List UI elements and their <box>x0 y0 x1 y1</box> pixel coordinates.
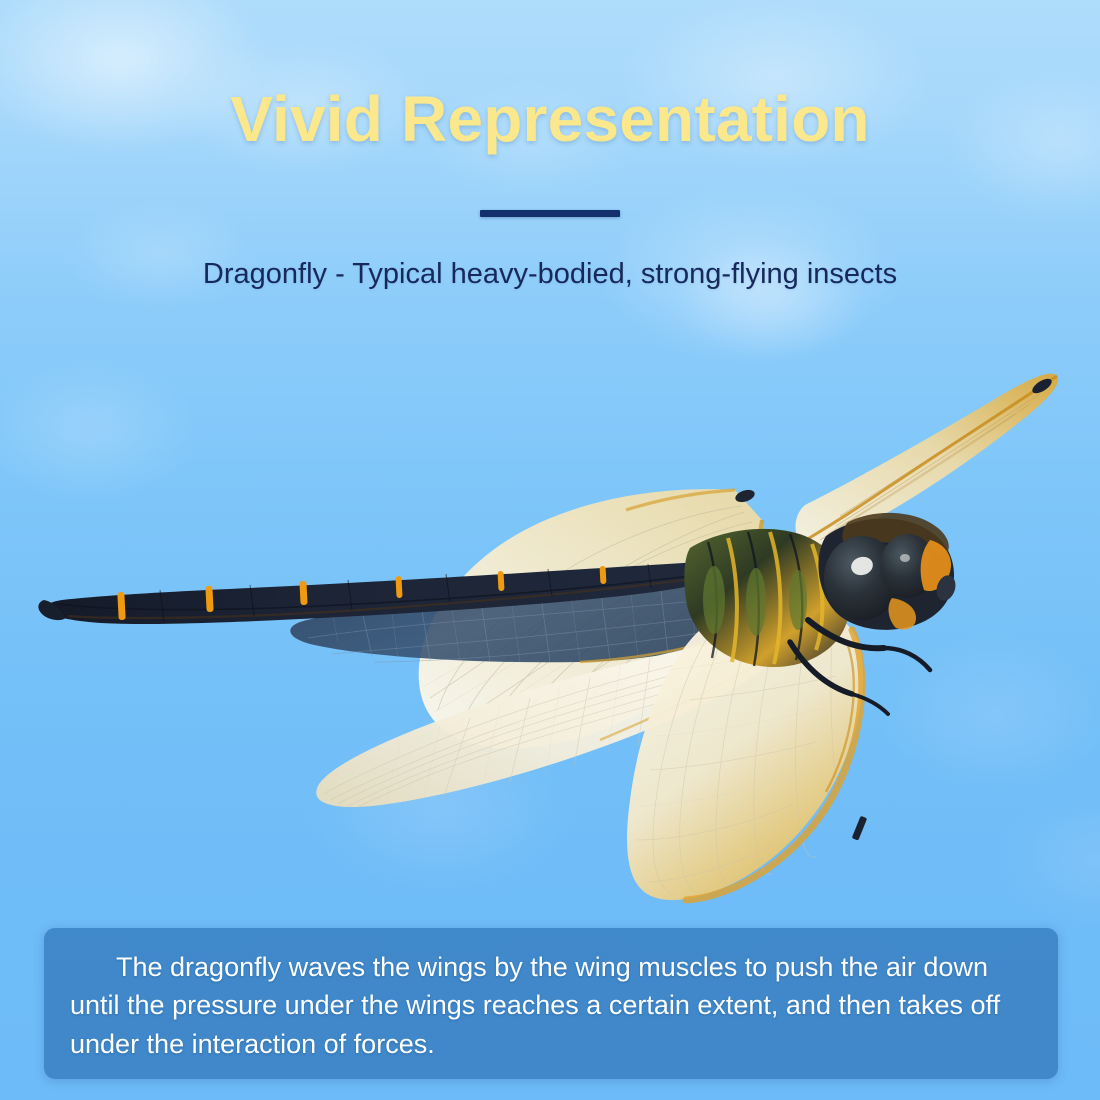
abdomen <box>38 562 713 624</box>
cloud-icon <box>0 330 240 530</box>
caption-box: The dragonfly waves the wings by the win… <box>44 928 1058 1079</box>
thorax <box>684 529 850 667</box>
page-subtitle: Dragonfly - Typical heavy-bodied, strong… <box>0 258 1100 291</box>
cloud-icon <box>830 600 1100 830</box>
wing-lower-right <box>627 607 867 900</box>
wing-lower-left-dark <box>290 572 812 663</box>
page-title: Vivid Representation <box>0 82 1100 156</box>
title-divider <box>480 210 620 217</box>
wing-upper-left <box>419 488 764 750</box>
cloud-icon <box>640 215 900 385</box>
cloud-icon <box>30 180 290 330</box>
head <box>818 513 958 630</box>
poster-canvas: Vivid Representation Dragonfly - Typical… <box>0 0 1100 1100</box>
dragonfly-body-group <box>38 374 1058 900</box>
compound-eye-icon <box>880 534 936 598</box>
caption-text: The dragonfly waves the wings by the win… <box>70 948 1032 1063</box>
wing-upper-right <box>795 374 1058 546</box>
wing-lower-left-pale <box>316 629 790 808</box>
dragonfly-photo <box>0 300 1100 930</box>
dragonfly-illustration <box>0 300 1100 930</box>
compound-eye-icon <box>824 536 900 620</box>
cloud-icon <box>250 690 630 930</box>
legs <box>790 573 930 714</box>
